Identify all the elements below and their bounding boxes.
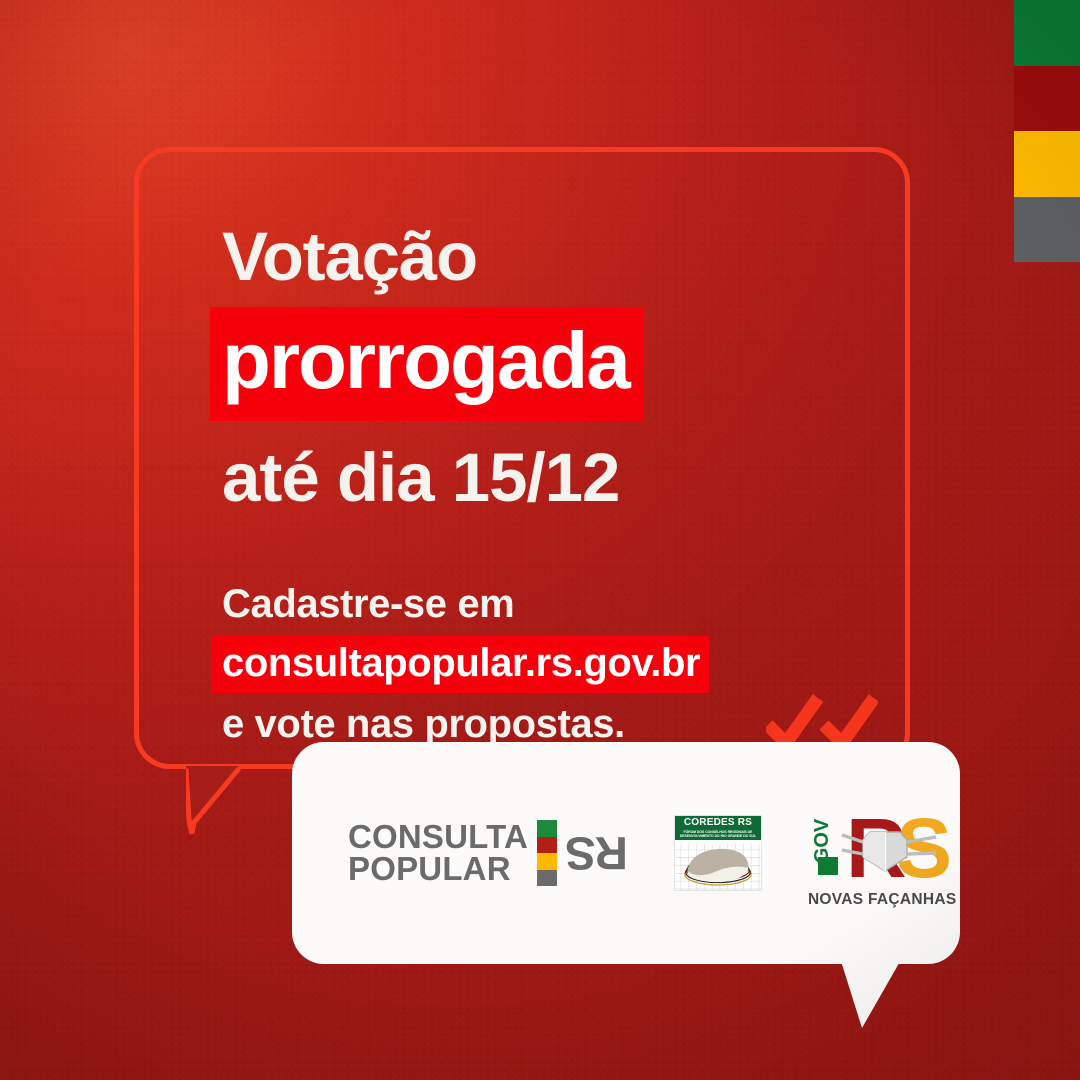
coredes-emblem-icon — [675, 844, 761, 891]
subtext-line-1: Cadastre-se em — [222, 582, 822, 627]
poster-canvas: Votação prorrogada até dia 15/12 Cadastr… — [0, 0, 1080, 1080]
cp-chip-green — [537, 820, 557, 837]
svg-text:GOV: GOV — [811, 818, 833, 863]
coredes-title: COREDES RS — [676, 818, 760, 829]
color-chip-gray — [1014, 197, 1080, 263]
logo-coredes-rs: COREDES RS FÓRUM DOS CONSELHOS REGIONAIS… — [674, 815, 762, 891]
gov-rs-mark-icon: GOV R S — [808, 797, 956, 885]
headline-line-2-wrap: prorrogada — [222, 307, 862, 421]
logo-gov-rs: GOV R S — [808, 797, 957, 909]
headline-line-3: até dia 15/12 — [222, 443, 862, 512]
logo-consulta-popular: CONSULTA POPULAR RS — [348, 820, 628, 886]
subtext-line-2-wrap: consultapopular.rs.gov.br — [222, 627, 822, 702]
cp-chip-gray — [537, 870, 557, 887]
coredes-subtitle: FÓRUM DOS CONSELHOS REGIONAIS DE DESENVO… — [676, 829, 760, 840]
website-url[interactable]: consultapopular.rs.gov.br — [211, 636, 709, 693]
brand-color-bar — [1014, 0, 1080, 262]
cp-chip-red — [537, 837, 557, 854]
logos-bubble: CONSULTA POPULAR RS COREDES RS FÓRUM DOS… — [292, 742, 960, 964]
headline-highlight: prorrogada — [210, 307, 643, 421]
color-chip-amber — [1014, 131, 1080, 197]
headline-line-1: Votação — [222, 222, 862, 291]
consulta-popular-color-chips — [537, 820, 557, 886]
logo-row: CONSULTA POPULAR RS COREDES RS FÓRUM DOS… — [292, 742, 960, 964]
color-chip-green — [1014, 0, 1080, 66]
consulta-popular-wordmark: CONSULTA POPULAR — [348, 821, 528, 884]
color-chip-red — [1014, 66, 1080, 132]
cp-chip-amber — [537, 853, 557, 870]
consulta-popular-line-2: POPULAR — [348, 853, 528, 885]
consulta-popular-line-1: CONSULTA — [348, 821, 528, 853]
logos-bubble-tail-icon — [840, 958, 902, 1030]
headline-block: Votação prorrogada até dia 15/12 — [222, 222, 862, 512]
speech-bubble-tail-icon — [186, 766, 242, 836]
subtext-line-3: e vote nas propostas. — [222, 702, 822, 747]
coredes-header: COREDES RS FÓRUM DOS CONSELHOS REGIONAIS… — [675, 816, 761, 840]
gov-rs-tagline: NOVAS FAÇANHAS — [808, 891, 957, 909]
subtext-block: Cadastre-se em consultapopular.rs.gov.br… — [222, 582, 822, 746]
consulta-popular-state-rs: RS — [566, 831, 628, 875]
